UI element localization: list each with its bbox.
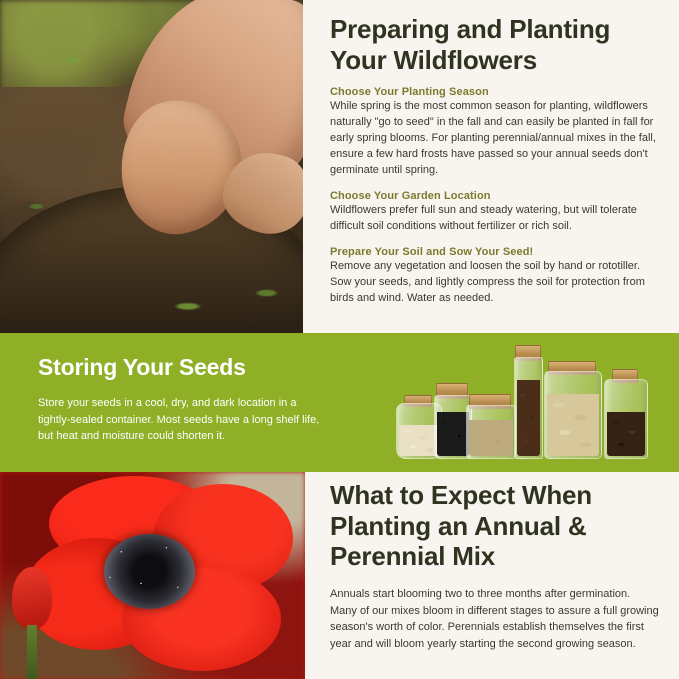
jar-contents	[437, 412, 469, 456]
storing-seeds-title: Storing Your Seeds	[38, 354, 246, 381]
section-storing-seeds: Storing Your Seeds Store your seeds in a…	[0, 333, 679, 472]
section-preparing-text: Preparing and Planting Your Wildflowers …	[330, 0, 660, 307]
hand-sowing-seeds-in-soil-photo	[0, 0, 303, 333]
jar-glass	[604, 379, 648, 459]
subheading-prepare-soil: Prepare Your Soil and Sow Your Seed!	[330, 246, 660, 258]
body-planting-season: While spring is the most common season f…	[330, 99, 660, 179]
jar-contents	[469, 420, 513, 456]
storing-seeds-body: Store your seeds in a cool, dry, and dar…	[38, 395, 328, 445]
jar-glass	[514, 357, 543, 459]
section-what-to-expect-text: What to Expect When Planting an Annual &…	[330, 472, 660, 652]
jar-contents	[607, 412, 645, 456]
infographic-page: Preparing and Planting Your Wildflowers …	[0, 0, 679, 679]
seed-jar	[604, 373, 646, 459]
jar-contents	[517, 380, 540, 456]
seed-jar	[544, 365, 600, 459]
jar-contents	[399, 425, 439, 456]
what-to-expect-title: What to Expect When Planting an Annual &…	[330, 480, 660, 572]
poppy-stem	[27, 625, 36, 679]
seed-jar	[434, 389, 470, 459]
page-title: Preparing and Planting Your Wildflowers	[330, 14, 660, 75]
section-preparing-planting: Preparing and Planting Your Wildflowers …	[0, 0, 679, 333]
jar-glass	[544, 371, 602, 459]
seed-jar	[514, 351, 541, 459]
section-what-to-expect: What to Expect When Planting an Annual &…	[0, 472, 679, 679]
poppy-stamens	[79, 522, 219, 621]
what-to-expect-body: Annuals start blooming two to three mont…	[330, 586, 660, 652]
jar-glass	[466, 405, 516, 459]
subheading-garden-location: Choose Your Garden Location	[330, 190, 660, 202]
glass-jars-of-seeds-photo	[392, 341, 668, 463]
body-garden-location: Wildflowers prefer full sun and steady w…	[330, 203, 660, 235]
jar-contents	[547, 394, 599, 456]
red-poppy-flower-photo	[0, 472, 305, 679]
subheading-planting-season: Choose Your Planting Season	[330, 86, 660, 98]
seed-jar	[466, 397, 514, 459]
poppy-bud	[12, 567, 52, 629]
body-prepare-soil: Remove any vegetation and loosen the soi…	[330, 259, 660, 307]
